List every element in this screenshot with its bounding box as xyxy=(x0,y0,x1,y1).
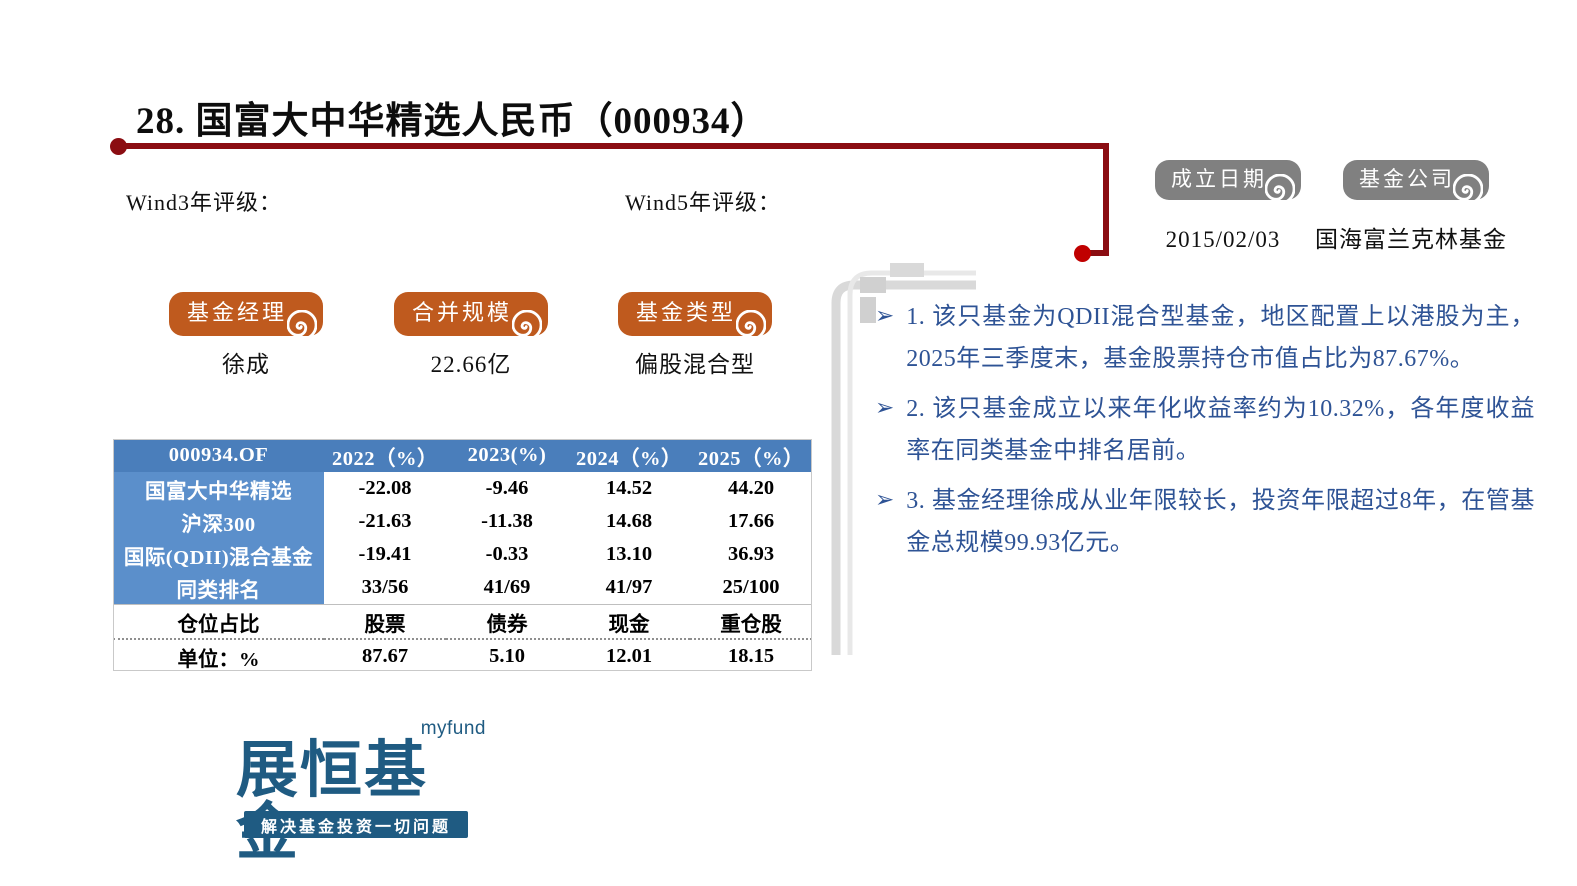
top-right-values: 2015/02/03国海富兰克林基金 xyxy=(1140,220,1540,254)
position-header-cell: 债券 xyxy=(446,605,568,640)
fund-type-badge: 基金类型 xyxy=(618,292,772,336)
inception-date-badge-label: 成立日期 xyxy=(1171,167,1267,191)
position-header-cell: 重仓股 xyxy=(690,605,812,640)
spiral-icon xyxy=(736,310,766,340)
page-title: 28. 国富大中华精选人民币（000934） xyxy=(136,90,769,144)
table-cell: 41/97 xyxy=(568,571,690,605)
wind-3y-rating-label: Wind3年评级： xyxy=(126,185,282,217)
spiral-icon xyxy=(287,310,317,340)
chevron-right-icon: ➢ xyxy=(875,480,894,520)
table-cell: 14.68 xyxy=(568,505,690,538)
position-header-label: 仓位占比 xyxy=(113,605,324,640)
fund-type-badge-group: 基金类型 偏股混合型 xyxy=(607,292,783,379)
position-value-cell: 18.15 xyxy=(690,639,812,673)
table-row-label: 国富大中华精选 xyxy=(113,472,324,505)
spiral-icon xyxy=(1265,174,1295,204)
table-cell: -0.33 xyxy=(446,538,568,571)
spiral-icon xyxy=(1453,174,1483,204)
table-header-cell: 000934.OF xyxy=(113,439,324,472)
fund-company-value: 国海富兰克林基金 xyxy=(1306,220,1516,254)
table-cell: 17.66 xyxy=(690,505,812,538)
table-header-row: 000934.OF 2022（%） 2023(%) 2024（%） 2025（%… xyxy=(113,439,812,472)
logo-subtitle: myfund xyxy=(421,718,486,740)
note-text: 1. 该只基金为QDII混合型基金，地区配置上以港股为主，2025年三季度末，基… xyxy=(906,296,1535,380)
position-header-cell: 股票 xyxy=(324,605,446,640)
position-unit-label: 单位：% xyxy=(113,639,324,673)
notes-list: ➢ 1. 该只基金为QDII混合型基金，地区配置上以港股为主，2025年三季度末… xyxy=(875,296,1535,572)
logo-tagline: 解决基金投资一切问题 xyxy=(261,813,451,837)
note-text: 3. 基金经理徐成从业年限较长，投资年限超过8年，在管基金总规模99.93亿元。 xyxy=(906,480,1535,564)
table-header-cell: 2023(%) xyxy=(446,439,568,472)
fund-company-badge: 基金公司 xyxy=(1343,160,1489,200)
table-row-label: 同类排名 xyxy=(113,571,324,605)
inception-date-value: 2015/02/03 xyxy=(1140,227,1306,253)
brand-logo: myfund 展恒基金 解决基金投资一切问题 xyxy=(236,718,486,838)
table-cell: 13.10 xyxy=(568,538,690,571)
table-cell: -21.63 xyxy=(324,505,446,538)
table-cell: 44.20 xyxy=(690,472,812,505)
connector-vertical-line xyxy=(1103,143,1109,256)
connector-end-dot xyxy=(1074,245,1091,262)
inception-date-badge-group: 成立日期 xyxy=(1150,160,1306,200)
logo-tagline-bar: 解决基金投资一切问题 xyxy=(244,811,468,838)
wind-5y-rating-label: Wind5年评级： xyxy=(625,185,781,217)
position-values-row: 单位：% 87.67 5.10 12.01 18.15 xyxy=(113,639,812,673)
table-cell: 33/56 xyxy=(324,571,446,605)
table-cell: -22.08 xyxy=(324,472,446,505)
note-item: ➢ 3. 基金经理徐成从业年限较长，投资年限超过8年，在管基金总规模99.93亿… xyxy=(875,480,1535,564)
fund-manager-badge-group: 基金经理 徐成 xyxy=(162,292,330,379)
table-row: 同类排名 33/56 41/69 41/97 25/100 xyxy=(113,571,812,605)
fund-type-badge-label: 基金类型 xyxy=(636,300,736,325)
table-cell: 25/100 xyxy=(690,571,812,605)
note-item: ➢ 2. 该只基金成立以来年化收益率约为10.32%，各年度收益率在同类基金中排… xyxy=(875,388,1535,472)
table-cell: -19.41 xyxy=(324,538,446,571)
table-cell: -9.46 xyxy=(446,472,568,505)
performance-table: 000934.OF 2022（%） 2023(%) 2024（%） 2025（%… xyxy=(113,439,812,673)
chevron-right-icon: ➢ xyxy=(875,296,894,336)
inception-date-badge: 成立日期 xyxy=(1155,160,1301,200)
position-value-cell: 87.67 xyxy=(324,639,446,673)
position-value-cell: 5.10 xyxy=(446,639,568,673)
table-row: 国际(QDII)混合基金 -19.41 -0.33 13.10 36.93 xyxy=(113,538,812,571)
fund-scale-badge: 合并规模 xyxy=(394,292,548,336)
fund-scale-badge-label: 合并规模 xyxy=(412,300,512,325)
fund-manager-value: 徐成 xyxy=(162,345,330,379)
connector-horizontal-line xyxy=(125,143,1109,149)
table-cell: 14.52 xyxy=(568,472,690,505)
position-value-cell: 12.01 xyxy=(568,639,690,673)
table-row-label: 国际(QDII)混合基金 xyxy=(113,538,324,571)
table-row-label: 沪深300 xyxy=(113,505,324,538)
table-cell: 36.93 xyxy=(690,538,812,571)
fund-manager-badge: 基金经理 xyxy=(169,292,323,336)
table-row: 国富大中华精选 -22.08 -9.46 14.52 44.20 xyxy=(113,472,812,505)
chevron-right-icon: ➢ xyxy=(875,388,894,428)
fund-scale-badge-group: 合并规模 22.66亿 xyxy=(387,292,555,379)
table-cell: 41/69 xyxy=(446,571,568,605)
table-row: 沪深300 -21.63 -11.38 14.68 17.66 xyxy=(113,505,812,538)
fund-company-badge-label: 基金公司 xyxy=(1359,167,1455,191)
table-header-cell: 2025（%） xyxy=(690,439,812,472)
note-text: 2. 该只基金成立以来年化收益率约为10.32%，各年度收益率在同类基金中排名居… xyxy=(906,388,1535,472)
position-header-row: 仓位占比 股票 债券 现金 重仓股 xyxy=(113,605,812,640)
spiral-icon xyxy=(512,310,542,340)
logo-name: 展恒基金 xyxy=(236,740,486,864)
fund-manager-badge-label: 基金经理 xyxy=(187,300,287,325)
note-item: ➢ 1. 该只基金为QDII混合型基金，地区配置上以港股为主，2025年三季度末… xyxy=(875,296,1535,380)
position-header-cell: 现金 xyxy=(568,605,690,640)
table-header-cell: 2022（%） xyxy=(324,439,446,472)
fund-type-value: 偏股混合型 xyxy=(607,345,783,379)
table-header-cell: 2024（%） xyxy=(568,439,690,472)
table-cell: -11.38 xyxy=(446,505,568,538)
fund-company-badge-group: 基金公司 xyxy=(1338,160,1494,200)
fund-scale-value: 22.66亿 xyxy=(387,345,555,379)
slide-canvas: 28. 国富大中华精选人民币（000934） Wind3年评级： Wind5年评… xyxy=(0,0,1577,886)
